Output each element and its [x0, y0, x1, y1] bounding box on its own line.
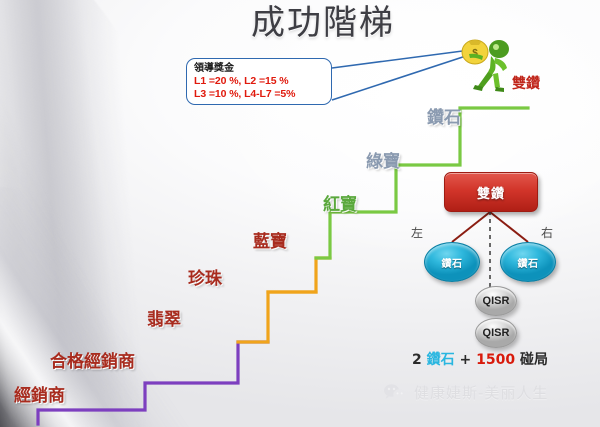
org-right-label: 右 — [541, 224, 553, 241]
stair-line-orange — [238, 292, 316, 342]
org-root-label: 雙鑽 — [477, 183, 505, 202]
org-left-label: 左 — [411, 224, 423, 241]
org-summary-plus: + — [460, 352, 472, 368]
bonus-callout: 領導獎金 L1 =20 %, L2 =15 % L3 =10 %, L4-L7 … — [186, 58, 332, 105]
org-summary-points: 1500 — [476, 352, 515, 368]
step-label-pearl: 珍珠 — [188, 264, 222, 289]
org-summary-count: 2 — [412, 352, 422, 368]
org-node-qisr-top[interactable]: QISR — [475, 286, 517, 316]
watermark-text: 健康婕斯-美丽人生 — [414, 382, 548, 403]
watermark: 健康婕斯-美丽人生 — [383, 382, 548, 403]
org-node-diamond-right[interactable]: 鑽石 — [500, 242, 556, 282]
org-node-qisr-bottom-label: QISR — [483, 327, 510, 339]
org-summary-unit: 碰局 — [520, 352, 548, 368]
step-label-emerald: 綠寶 — [366, 147, 400, 172]
org-summary-diamond: 鑽石 — [427, 352, 455, 368]
step-label-diamond: 鑽石 — [427, 103, 461, 128]
callout-header: 領導獎金 — [194, 63, 325, 75]
wechat-icon — [383, 383, 407, 402]
step-label-ruby: 紅寶 — [323, 190, 357, 215]
step-label-jade: 翡翠 — [147, 305, 181, 330]
step-label-sapphire: 藍寶 — [253, 227, 287, 252]
callout-line-1: L1 =20 %, L2 =15 % — [194, 75, 325, 88]
org-node-diamond-right-label: 鑽石 — [518, 255, 539, 270]
callout-line-2: L3 =10 %, L4-L7 =5% — [194, 88, 325, 101]
step-label-distributor: 經銷商 — [14, 381, 65, 406]
org-summary-line: 2 鑽石 + 1500 碰局 — [412, 349, 548, 369]
step-label-qualified-distributor: 合格經銷商 — [50, 347, 135, 372]
slide-canvas: 成功階梯 經銷商 合格經銷商 翡翠 珍珠 藍寶 紅寶 綠寶 鑽石 雙鑽 領導獎金… — [0, 0, 600, 427]
org-node-diamond-left-label: 鑽石 — [442, 255, 463, 270]
stair-line-orange-2 — [268, 258, 330, 292]
org-node-qisr-top-label: QISR — [483, 295, 510, 307]
org-node-diamond-left[interactable]: 鑽石 — [424, 242, 480, 282]
org-root-double-diamond[interactable]: 雙鑽 — [444, 172, 538, 212]
money-bag-figure-icon: $ — [455, 36, 525, 92]
org-node-qisr-bottom[interactable]: QISR — [475, 318, 517, 348]
